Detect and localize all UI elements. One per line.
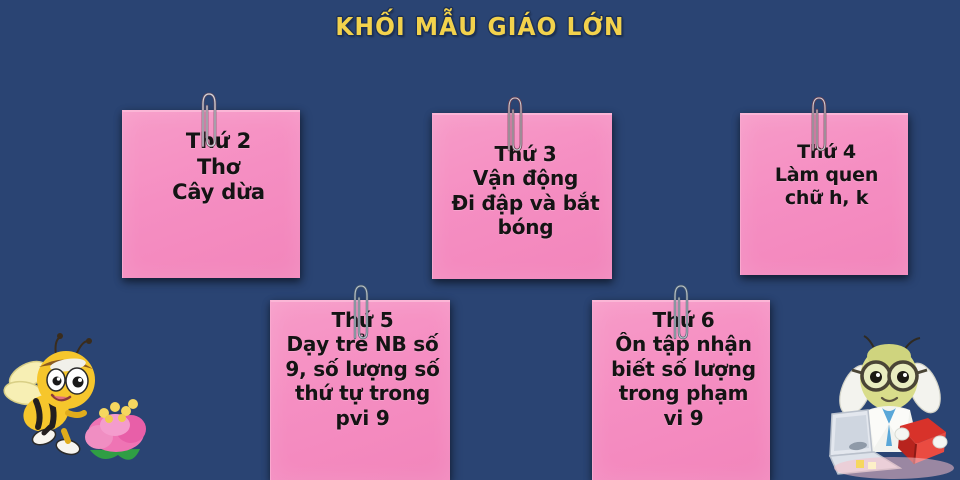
scholar-bug-illustration [828, 328, 960, 480]
bee-with-flower-illustration [0, 325, 148, 480]
sticky-note-thu-2[interactable]: Thứ 2 Thơ Cây dừa [122, 110, 300, 278]
sticky-note-thu-3[interactable]: Thứ 3 Vận động Đi đập và bắt bóng [432, 113, 612, 279]
sticky-note-text: Thứ 4 Làm quen chữ h, k [769, 115, 884, 211]
sticky-note-text: Thứ 3 Vận động Đi đập và bắt bóng [436, 115, 612, 240]
schedule-board: KHỐI MẪU GIÁO LỚN Thứ 2 Thơ Cây dừa Thứ … [0, 0, 960, 480]
sticky-note-thu-6[interactable]: Thứ 6 Ôn tập nhận biết số lượng trong ph… [592, 300, 770, 480]
sticky-note-text: Thứ 6 Ôn tập nhận biết số lượng trong ph… [605, 302, 762, 430]
sticky-note-text: Thứ 5 Dạy trẻ NB số 9, số lượng số thứ t… [279, 302, 445, 430]
sticky-note-thu-4[interactable]: Thứ 4 Làm quen chữ h, k [740, 113, 908, 275]
page-title: KHỐI MẪU GIÁO LỚN [34, 12, 927, 41]
sticky-note-text: Thứ 2 Thơ Cây dừa [166, 112, 271, 206]
sticky-note-thu-5[interactable]: Thứ 5 Dạy trẻ NB số 9, số lượng số thứ t… [270, 300, 450, 480]
